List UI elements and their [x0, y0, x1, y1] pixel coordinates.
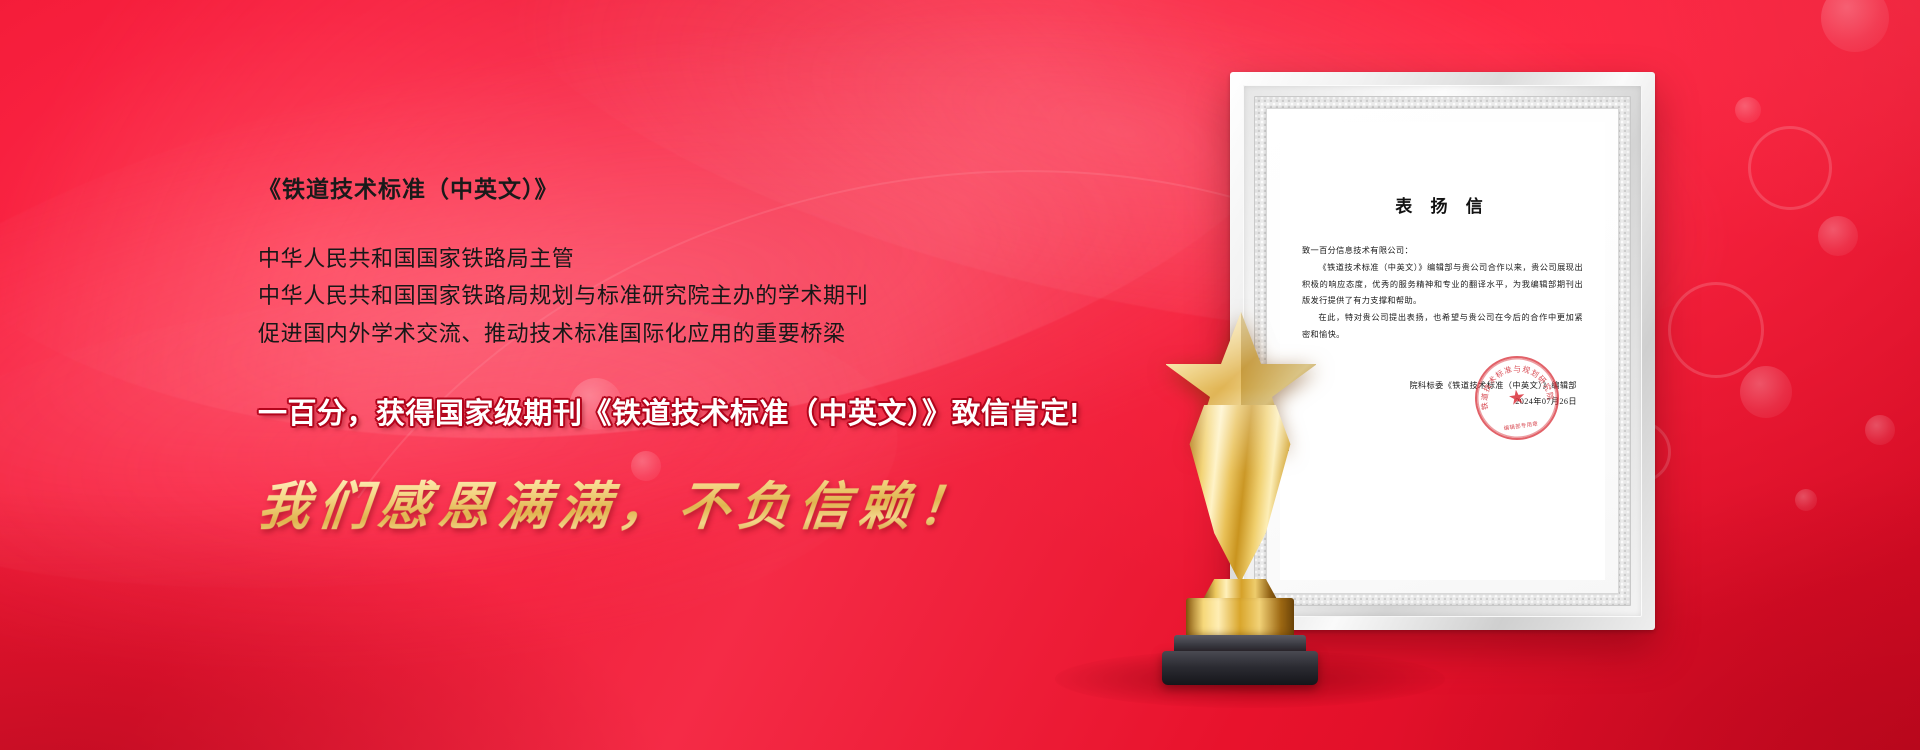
trophy-plinth — [1186, 598, 1294, 638]
certificate-salutation: 致一百分信息技术有限公司： — [1302, 243, 1583, 260]
certificate-signature-block: 铁道技术标准与规划研究院 ★ 编辑部专用章 院科标委《铁道技术标准（中英文）》编… — [1302, 378, 1583, 410]
gold-trophy-icon — [1140, 310, 1340, 685]
tagline-list: 中华人民共和国国家铁路局主管 中华人民共和国国家铁路局规划与标准研究院主办的学术… — [258, 240, 1178, 353]
tagline-item: 中华人民共和国国家铁路局主管 — [258, 240, 1178, 278]
tagline-item: 中华人民共和国国家铁路局规划与标准研究院主办的学术期刊 — [258, 277, 1178, 315]
tagline-item: 促进国内外学术交流、推动技术标准国际化应用的重要桥梁 — [258, 315, 1178, 353]
official-seal-stamp: 铁道技术标准与规划研究院 ★ 编辑部专用章 — [1470, 350, 1565, 445]
headline-copy-block: 《铁道技术标准（中英文）》 中华人民共和国国家铁路局主管 中华人民共和国国家铁路… — [258, 176, 1178, 538]
trophy-base-lower — [1162, 651, 1318, 685]
seal-star-icon: ★ — [1507, 387, 1528, 409]
award-headline: 一百分，获得国家级期刊《铁道技术标准（中英文）》致信肯定! — [258, 397, 1178, 432]
trophy-cup-highlight — [1184, 405, 1296, 583]
promotional-banner: 《铁道技术标准（中英文）》 中华人民共和国国家铁路局主管 中华人民共和国国家铁路… — [0, 0, 1920, 750]
certificate-title: 表 扬 信 — [1302, 192, 1583, 217]
certificate-paragraph: 在此，特对贵公司提出表扬，也希望与贵公司在今后的合作中更加紧密和愉快。 — [1302, 310, 1583, 344]
journal-title: 《铁道技术标准（中英文）》 — [258, 176, 1178, 204]
gratitude-slogan: 我们感恩满满，不负信赖！ — [255, 478, 1181, 538]
certificate-paragraph: 《铁道技术标准（中英文）》编辑部与贵公司合作以来，贵公司展现出积极的响应态度，优… — [1302, 260, 1583, 310]
